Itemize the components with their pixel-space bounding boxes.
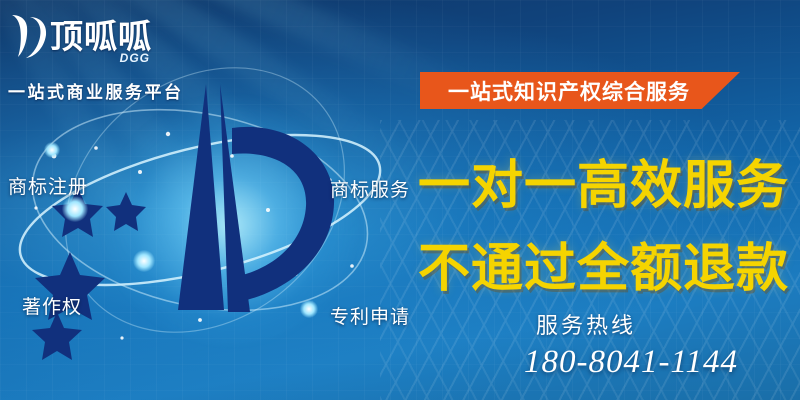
brand-logo[interactable]: 顶呱呱 DGG 一站式商业服务平台 — [8, 8, 188, 103]
promo-headline-primary: 一对一高效服务 — [418, 143, 789, 218]
glow-dot — [62, 196, 88, 222]
promo-banner: 顶呱呱 DGG 一站式商业服务平台 商标注册 商标服务 著作权 专利申请 一站式… — [0, 0, 800, 400]
promo-ribbon-text: 一站式知识产权综合服务 — [448, 76, 712, 106]
hotline-label: 服务热线 — [536, 308, 636, 340]
brand-abbr: DGG — [120, 51, 150, 65]
hotline-phone-number[interactable]: 180-8041-1144 — [524, 344, 738, 381]
service-label-copyright: 著作权 — [22, 292, 82, 319]
brand-tagline: 一站式商业服务平台 — [8, 78, 188, 103]
brand-name-cn: 顶呱呱 — [50, 20, 152, 53]
promo-headline-secondary: 不通过全额退款 — [418, 226, 789, 301]
promo-ribbon: 一站式知识产权综合服务 — [420, 72, 740, 109]
ip-monogram-emblem — [120, 80, 350, 340]
service-label-patent-application: 专利申请 — [330, 302, 410, 329]
dgg-swoosh-logo-icon — [8, 11, 48, 61]
service-label-trademark-service: 商标服务 — [330, 175, 410, 202]
glow-dot — [44, 142, 60, 158]
service-label-trademark-registration: 商标注册 — [8, 172, 88, 199]
